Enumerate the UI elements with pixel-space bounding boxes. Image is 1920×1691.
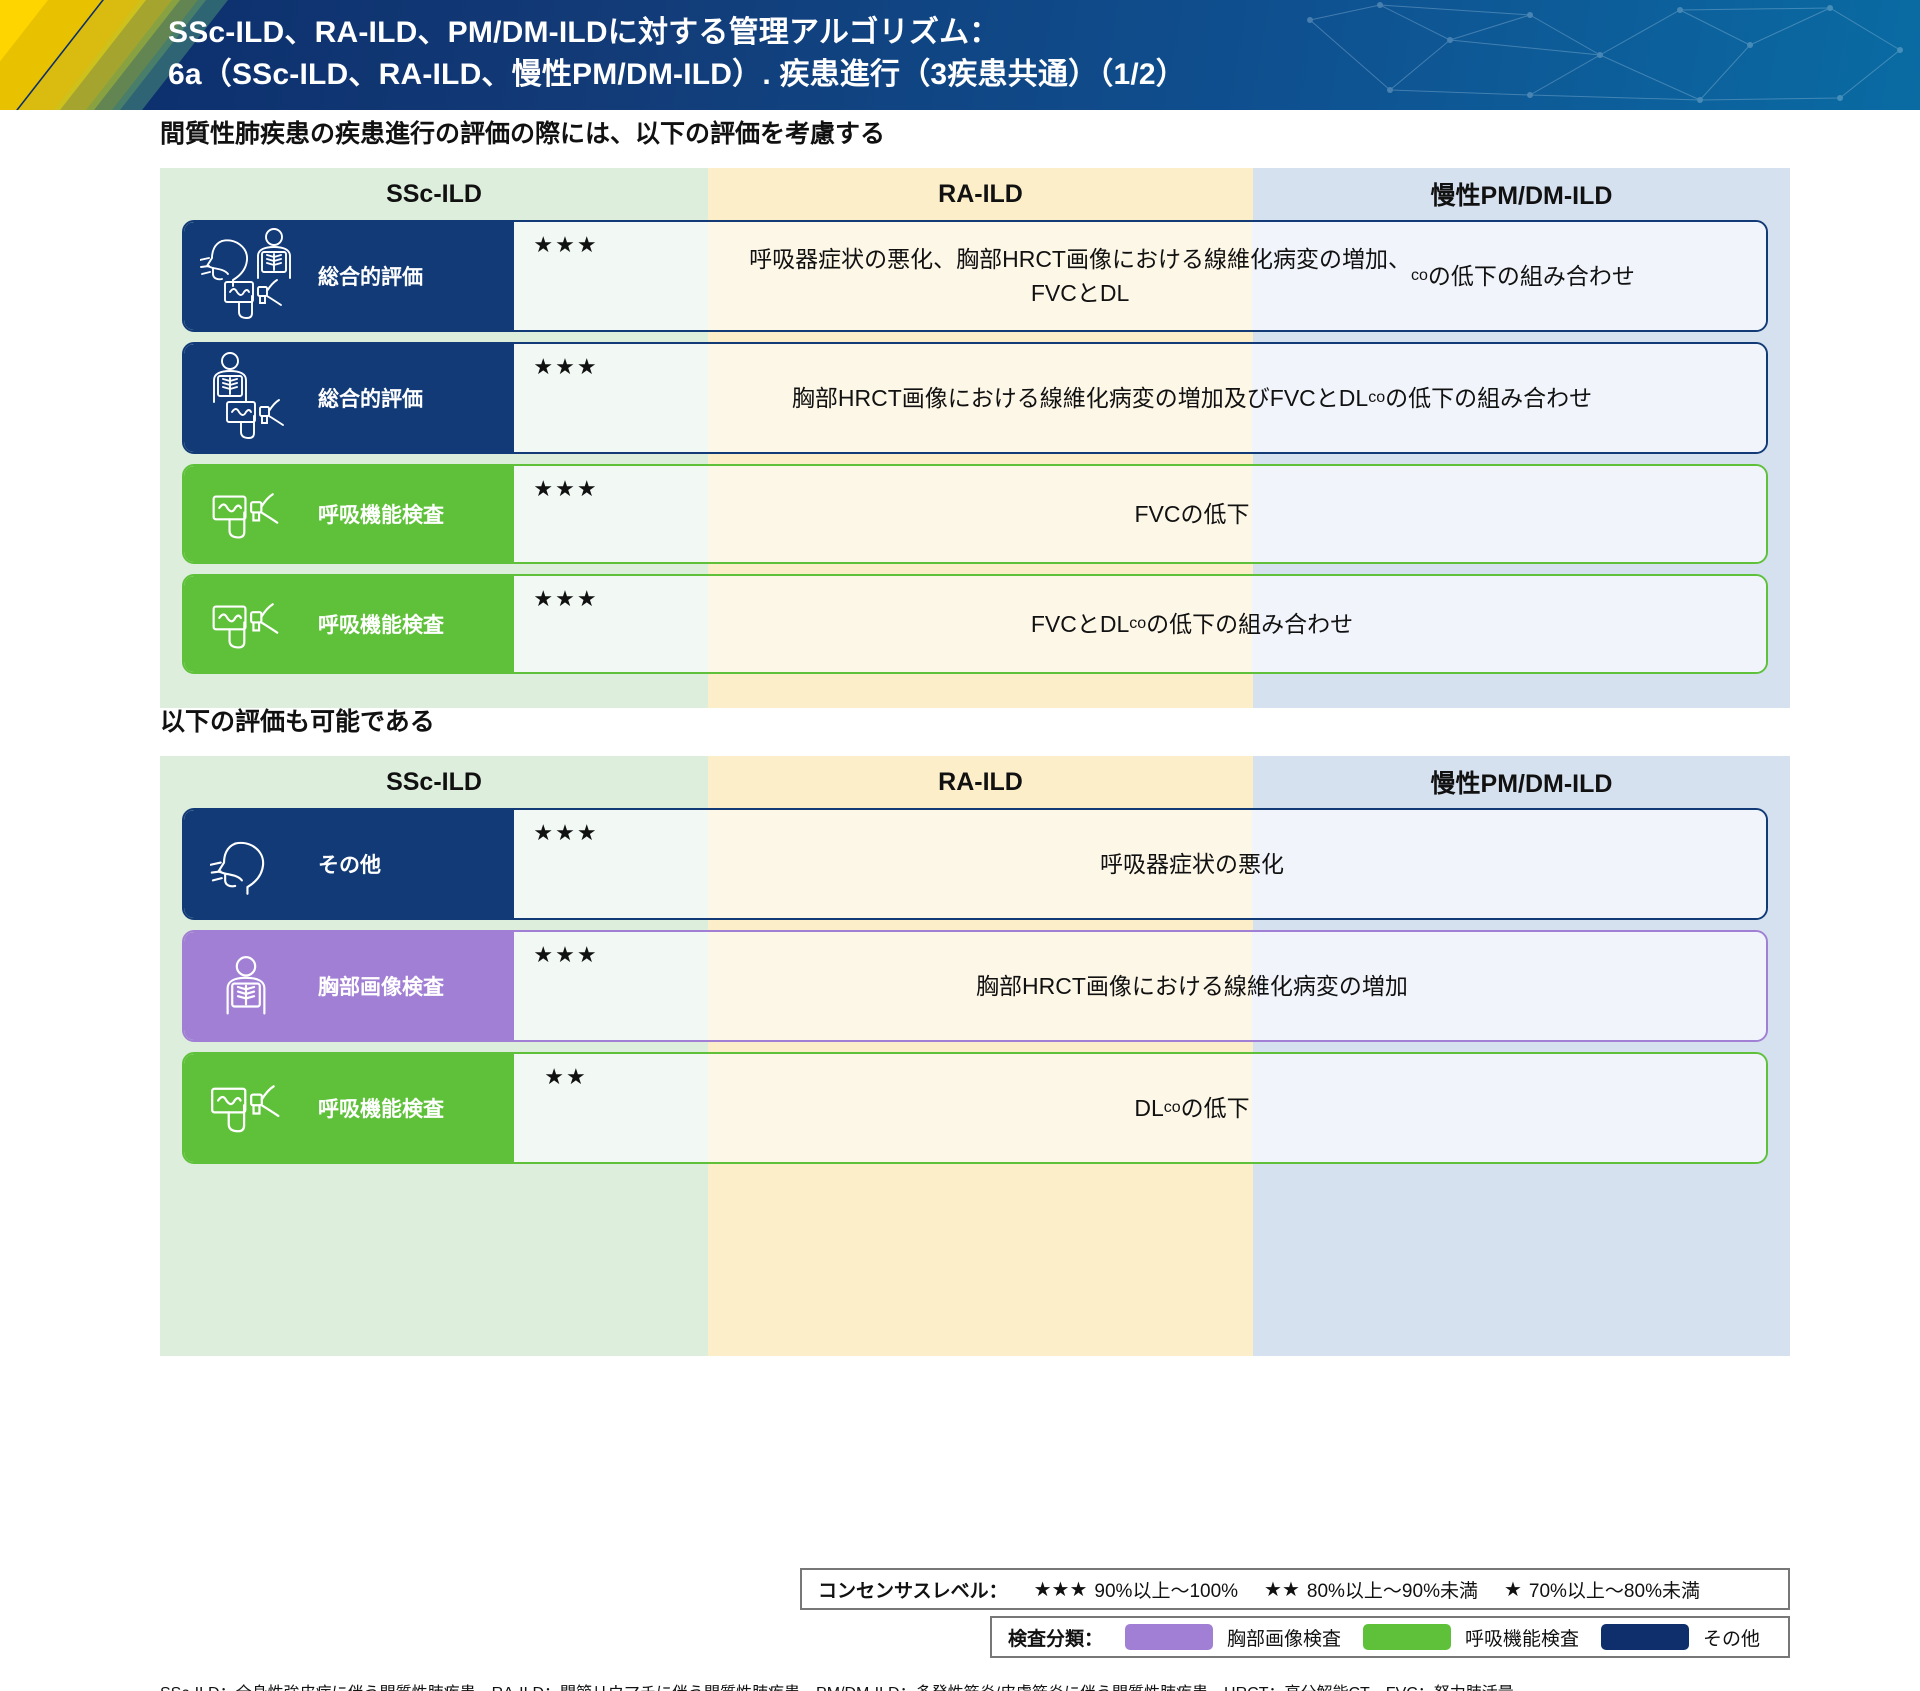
legend-title: 検査分類： bbox=[1008, 1624, 1103, 1651]
legend-label-pulmonary-function: 呼吸機能検査 bbox=[1465, 1624, 1579, 1651]
row-label-text: 総合的評価 bbox=[318, 383, 423, 413]
row-icons bbox=[198, 576, 310, 672]
row-icons bbox=[198, 222, 310, 330]
row-label-cell: 総合的評価 bbox=[184, 222, 514, 330]
row-label-text: 総合的評価 bbox=[318, 261, 423, 291]
legend-stars: ★★ bbox=[1264, 1577, 1300, 1602]
slide-page: SSc-ILD、RA-ILD、PM/DM-ILDに対する管理アルゴリズム：6a（… bbox=[0, 0, 1920, 1691]
spirometry-icon bbox=[212, 602, 288, 652]
section1-caption: 間質性肺疾患の疾患進行の評価の際には、以下の評価を考慮する bbox=[160, 114, 885, 150]
section1-rows: 総合的評価 ★★★ 呼吸器症状の悪化、胸部HRCT画像における線維化病変の増加、… bbox=[160, 220, 1790, 674]
column-header-pmdm-ild: 慢性PM/DM-ILD bbox=[1253, 168, 1790, 220]
legend-label-chest-imaging: 胸部画像検査 bbox=[1227, 1624, 1341, 1651]
row-icons bbox=[198, 466, 310, 562]
section1-table: SSc-ILD RA-ILD 慢性PM/DM-ILD bbox=[160, 168, 1790, 708]
table-row[interactable]: 呼吸機能検査 ★★★ FVCの低下 bbox=[182, 464, 1768, 564]
row-label-cell: 呼吸機能検査 bbox=[184, 1054, 514, 1162]
legend-item: ★ 70%以上～80%未満 bbox=[1504, 1576, 1700, 1603]
column-header-ssc-ild: SSc-ILD bbox=[160, 168, 708, 220]
row-label-text: その他 bbox=[318, 849, 381, 879]
section2-caption: 以下の評価も可能である bbox=[160, 702, 435, 738]
row-label-cell: 胸部画像検査 bbox=[184, 932, 514, 1040]
slide-body: 間質性肺疾患の疾患進行の評価の際には、以下の評価を考慮する SSc-ILD RA… bbox=[0, 110, 1920, 1691]
test-classification-legend: 検査分類： 胸部画像検査 呼吸機能検査 その他 bbox=[990, 1616, 1790, 1658]
network-pattern-decoration bbox=[1300, 0, 1920, 110]
row-label-cell: 呼吸機能検査 bbox=[184, 576, 514, 672]
spirometry-icon bbox=[224, 278, 290, 322]
row-icons bbox=[198, 932, 310, 1040]
row-stars: ★★★ bbox=[514, 932, 618, 1040]
table-row[interactable]: その他 ★★★ 呼吸器症状の悪化 bbox=[182, 808, 1768, 920]
row-stars: ★★ bbox=[514, 1054, 618, 1162]
row-text: 呼吸器症状の悪化 bbox=[618, 810, 1766, 918]
page-title: SSc-ILD、RA-ILD、PM/DM-ILDに対する管理アルゴリズム：6a（… bbox=[168, 12, 1186, 96]
slide-header: SSc-ILD、RA-ILD、PM/DM-ILDに対する管理アルゴリズム：6a（… bbox=[0, 0, 1920, 110]
legend-item: ★★★ 90%以上～100% bbox=[1034, 1576, 1238, 1603]
legend-range: 80%以上～90%未満 bbox=[1307, 1576, 1478, 1603]
row-label-cell: 呼吸機能検査 bbox=[184, 466, 514, 562]
legend-item: ★★ 80%以上～90%未満 bbox=[1264, 1576, 1478, 1603]
row-text: FVCの低下 bbox=[618, 466, 1766, 562]
table-row[interactable]: 総合的評価 ★★★ 呼吸器症状の悪化、胸部HRCT画像における線維化病変の増加、… bbox=[182, 220, 1768, 332]
row-label-text: 呼吸機能検査 bbox=[318, 609, 444, 639]
table-row[interactable]: 呼吸機能検査 ★★★ FVCとDLcoの低下の組み合わせ bbox=[182, 574, 1768, 674]
row-label-text: 呼吸機能検査 bbox=[318, 1093, 444, 1123]
consensus-level-legend: コンセンサスレベル： ★★★ 90%以上～100% ★★ 80%以上～90%未満… bbox=[800, 1568, 1790, 1610]
row-stars: ★★★ bbox=[514, 810, 618, 918]
row-stars: ★★★ bbox=[514, 466, 618, 562]
abbreviation-footnote: SSc-ILD：全身性強皮症に伴う間質性肺疾患、RA-ILD：関節リウマチに伴う… bbox=[160, 1682, 1530, 1691]
row-label-cell: 総合的評価 bbox=[184, 344, 514, 452]
row-stars: ★★★ bbox=[514, 344, 618, 452]
column-header-ra-ild: RA-ILD bbox=[708, 168, 1253, 220]
table-row[interactable]: 胸部画像検査 ★★★ 胸部HRCT画像における線維化病変の増加 bbox=[182, 930, 1768, 1042]
row-icons bbox=[198, 810, 310, 918]
row-text: 呼吸器症状の悪化、胸部HRCT画像における線維化病変の増加、FVCとDLcoの低… bbox=[618, 222, 1766, 330]
legend-swatch-chest-imaging bbox=[1125, 1624, 1213, 1650]
legend-stars: ★★★ bbox=[1034, 1577, 1088, 1602]
table-row[interactable]: 総合的評価 ★★★ 胸部HRCT画像における線維化病変の増加及びFVCとDLco… bbox=[182, 342, 1768, 454]
cough-head-icon bbox=[210, 838, 276, 896]
row-stars: ★★★ bbox=[514, 576, 618, 672]
row-text: 胸部HRCT画像における線維化病変の増加及びFVCとDLcoの低下の組み合わせ bbox=[618, 344, 1766, 452]
section2-table: SSc-ILD RA-ILD 慢性PM/DM-ILD bbox=[160, 756, 1790, 1356]
row-text: DLcoの低下 bbox=[618, 1054, 1766, 1162]
row-text: 胸部HRCT画像における線維化病変の増加 bbox=[618, 932, 1766, 1040]
column-header-ssc-ild: SSc-ILD bbox=[160, 756, 708, 808]
legend-range: 70%以上～80%未満 bbox=[1529, 1576, 1700, 1603]
legend-title: コンセンサスレベル： bbox=[818, 1576, 1008, 1603]
row-label-cell: その他 bbox=[184, 810, 514, 918]
legend-swatch-pulmonary-function bbox=[1363, 1624, 1451, 1650]
row-stars: ★★★ bbox=[514, 222, 618, 330]
column-header-ra-ild: RA-ILD bbox=[708, 756, 1253, 808]
legend-swatch-other bbox=[1601, 1624, 1689, 1650]
table-row[interactable]: 呼吸機能検査 ★★ DLcoの低下 bbox=[182, 1052, 1768, 1164]
chest-xray-person-icon bbox=[216, 956, 276, 1018]
chest-xray-person-icon bbox=[248, 228, 300, 282]
row-icons bbox=[198, 1054, 310, 1162]
legend-stars: ★ bbox=[1504, 1577, 1522, 1602]
column-header-pmdm-ild: 慢性PM/DM-ILD bbox=[1253, 756, 1790, 808]
spirometry-icon bbox=[210, 1084, 290, 1136]
legend-label-other: その他 bbox=[1703, 1624, 1760, 1651]
row-label-text: 胸部画像検査 bbox=[318, 971, 444, 1001]
section2-rows: その他 ★★★ 呼吸器症状の悪化 bbox=[160, 808, 1790, 1164]
spirometry-icon bbox=[212, 492, 288, 542]
spirometry-icon bbox=[226, 398, 292, 442]
row-text: FVCとDLcoの低下の組み合わせ bbox=[618, 576, 1766, 672]
legend-range: 90%以上～100% bbox=[1094, 1576, 1238, 1603]
row-icons bbox=[198, 344, 310, 452]
row-label-text: 呼吸機能検査 bbox=[318, 499, 444, 529]
